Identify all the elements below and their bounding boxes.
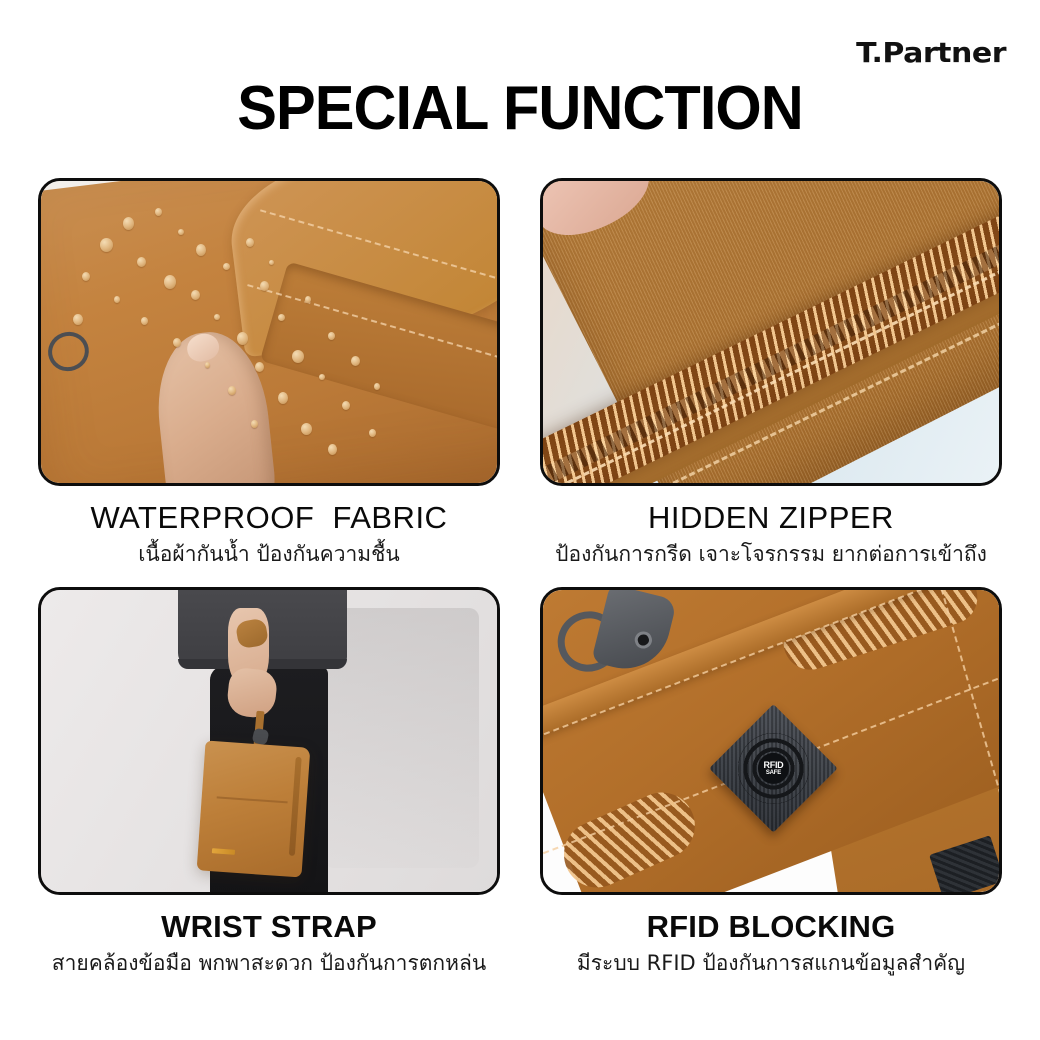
rfid-tag-line1: RFID bbox=[763, 761, 783, 770]
feature-card-rfid-blocking: RFID SAFE RFID BLOCKING มีระบบ RFID ป้อง… bbox=[540, 587, 1002, 978]
photo-hidden-zipper bbox=[540, 178, 1002, 486]
feature-title-th: มีระบบ RFID ป้องกันการสแกนข้อมูลสำคัญ bbox=[540, 945, 1002, 978]
caption-rfid-blocking: RFID BLOCKING มีระบบ RFID ป้องกันการสแกน… bbox=[540, 895, 1002, 978]
feature-title-th: ป้องกันการกรีด เจาะโจรกรรม ยากต่อการเข้า… bbox=[540, 536, 1002, 569]
infographic-page: T.Partner SPECIAL FUNCTION bbox=[0, 0, 1040, 1040]
feature-title-th: เนื้อผ้ากันน้ำ ป้องกันความชื้น bbox=[38, 536, 500, 569]
feature-card-waterproof-fabric: WATERPROOF FABRIC เนื้อผ้ากันน้ำ ป้องกัน… bbox=[38, 178, 500, 569]
feature-title-en: WATERPROOF FABRIC bbox=[38, 500, 500, 536]
feature-card-wrist-strap: WRIST STRAP สายคล้องข้อมือ พกพาสะดวก ป้อ… bbox=[38, 587, 500, 978]
photo-rfid-blocking: RFID SAFE bbox=[540, 587, 1002, 895]
caption-hidden-zipper: HIDDEN ZIPPER ป้องกันการกรีด เจาะโจรกรรม… bbox=[540, 486, 1002, 569]
pouch-seam bbox=[216, 796, 287, 803]
caption-waterproof-fabric: WATERPROOF FABRIC เนื้อผ้ากันน้ำ ป้องกัน… bbox=[38, 486, 500, 569]
backdrop-shadow bbox=[324, 608, 479, 868]
brand-logo: T.Partner bbox=[856, 37, 1006, 69]
photo-wrist-strap bbox=[38, 587, 500, 895]
rfid-tag-text: RFID SAFE bbox=[758, 753, 789, 784]
feature-grid: WATERPROOF FABRIC เนื้อผ้ากันน้ำ ป้องกัน… bbox=[38, 178, 1002, 978]
rfid-tag-line2: SAFE bbox=[766, 770, 781, 776]
feature-title-en: HIDDEN ZIPPER bbox=[540, 500, 1002, 536]
feature-title-en: WRIST STRAP bbox=[38, 909, 500, 945]
clasp-body bbox=[591, 587, 677, 678]
page-title: SPECIAL FUNCTION bbox=[21, 78, 1019, 140]
pouch-brand-logo bbox=[211, 848, 234, 855]
photo-waterproof-fabric bbox=[38, 178, 500, 486]
feature-title-th: สายคล้องข้อมือ พกพาสะดวก ป้องกันการตกหล่… bbox=[38, 945, 500, 978]
caption-wrist-strap: WRIST STRAP สายคล้องข้อมือ พกพาสะดวก ป้อ… bbox=[38, 895, 500, 978]
pouch-body bbox=[196, 741, 310, 878]
feature-card-hidden-zipper: HIDDEN ZIPPER ป้องกันการกรีด เจาะโจรกรรม… bbox=[540, 178, 1002, 569]
feature-title-en: RFID BLOCKING bbox=[540, 909, 1002, 945]
pouch-zipper bbox=[289, 757, 301, 856]
